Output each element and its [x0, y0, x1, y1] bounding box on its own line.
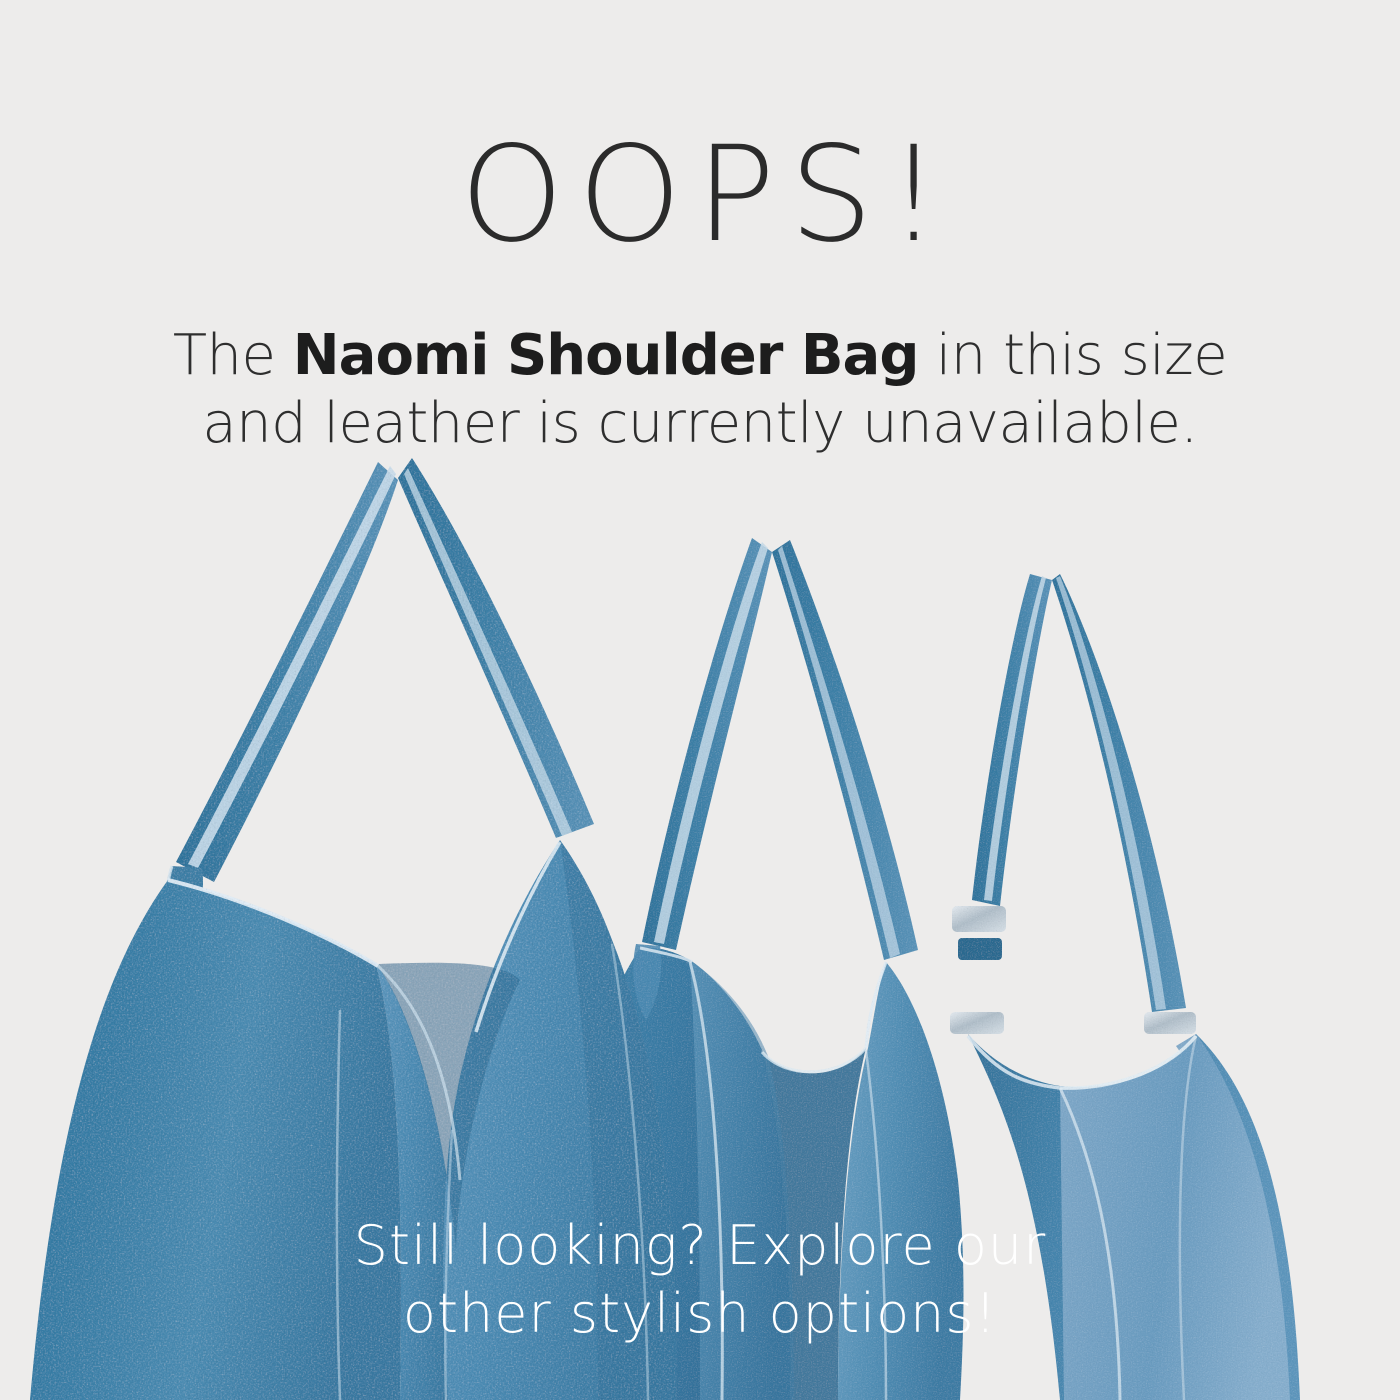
page-title: OOPS! [0, 128, 1400, 263]
cta-line-two: other stylish options! [0, 1280, 1400, 1348]
message-line-two: and leather is currently unavailable. [202, 391, 1197, 456]
oops-product-unavailable-page: OOPS! The Naomi Shoulder Bag in this siz… [0, 0, 1400, 1400]
cta-line-one: Still looking? Explore our [0, 1212, 1400, 1280]
product-name: Naomi Shoulder Bag [293, 323, 919, 388]
message-suffix: in this size [918, 323, 1227, 388]
unavailable-message: The Naomi Shoulder Bag in this size and … [0, 322, 1400, 459]
explore-options-cta[interactable]: Still looking? Explore our other stylish… [0, 1212, 1400, 1348]
message-prefix: The [173, 323, 293, 388]
